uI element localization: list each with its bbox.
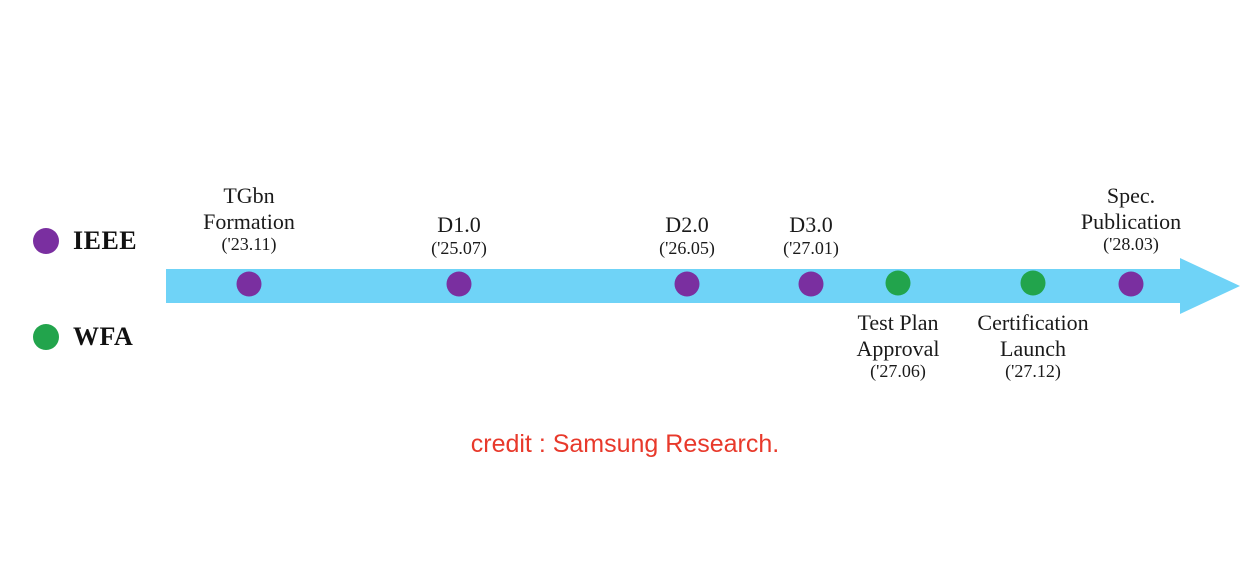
milestone-date: ('27.06) [856, 361, 939, 382]
legend-item-ieee: IEEE [33, 226, 137, 256]
milestone-name-line1: D1.0 [431, 212, 487, 238]
milestone-name-line1: Spec. [1081, 183, 1181, 209]
milestone-dot-test-plan-approval[interactable] [886, 271, 911, 296]
milestone-label-tgbn-formation: TGbn Formation ('23.11) [203, 183, 295, 255]
milestone-dot-d1-0[interactable] [447, 272, 472, 297]
milestone-name-line2: Approval [856, 336, 939, 362]
milestone-date: ('25.07) [431, 238, 487, 259]
milestone-date: ('23.11) [203, 234, 295, 255]
milestone-label-certification-launch: Certification Launch ('27.12) [977, 310, 1088, 382]
milestone-label-d3-0: D3.0 ('27.01) [783, 212, 839, 258]
milestone-name-line1: Certification [977, 310, 1088, 336]
milestone-name-line1: D3.0 [783, 212, 839, 238]
milestone-name-line2: Launch [977, 336, 1088, 362]
milestone-label-spec-publication: Spec. Publication ('28.03) [1081, 183, 1181, 255]
milestone-date: ('28.03) [1081, 234, 1181, 255]
milestone-dot-certification-launch[interactable] [1021, 271, 1046, 296]
milestone-dot-d3-0[interactable] [799, 272, 824, 297]
milestone-dot-spec-publication[interactable] [1119, 272, 1144, 297]
milestone-name-line1: Test Plan [856, 310, 939, 336]
milestone-name-line2: Publication [1081, 209, 1181, 235]
timeline-diagram: IEEE WFA TGbn Formation ('23.11) D1.0 ('… [0, 0, 1250, 576]
credit-text: credit : Samsung Research. [0, 430, 1250, 459]
milestone-label-test-plan-approval: Test Plan Approval ('27.06) [856, 310, 939, 382]
legend-label-wfa: WFA [73, 322, 133, 352]
milestone-label-d1-0: D1.0 ('25.07) [431, 212, 487, 258]
timeline-arrow [160, 258, 1245, 314]
milestone-dot-d2-0[interactable] [675, 272, 700, 297]
legend-item-wfa: WFA [33, 322, 133, 352]
milestone-name-line2: Formation [203, 209, 295, 235]
milestone-date: ('27.12) [977, 361, 1088, 382]
green-dot-icon [33, 324, 59, 350]
legend-label-ieee: IEEE [73, 226, 137, 256]
milestone-label-d2-0: D2.0 ('26.05) [659, 212, 715, 258]
milestone-date: ('27.01) [783, 238, 839, 259]
purple-dot-icon [33, 228, 59, 254]
milestone-name-line1: TGbn [203, 183, 295, 209]
milestone-date: ('26.05) [659, 238, 715, 259]
milestone-name-line1: D2.0 [659, 212, 715, 238]
milestone-dot-tgbn-formation[interactable] [237, 272, 262, 297]
